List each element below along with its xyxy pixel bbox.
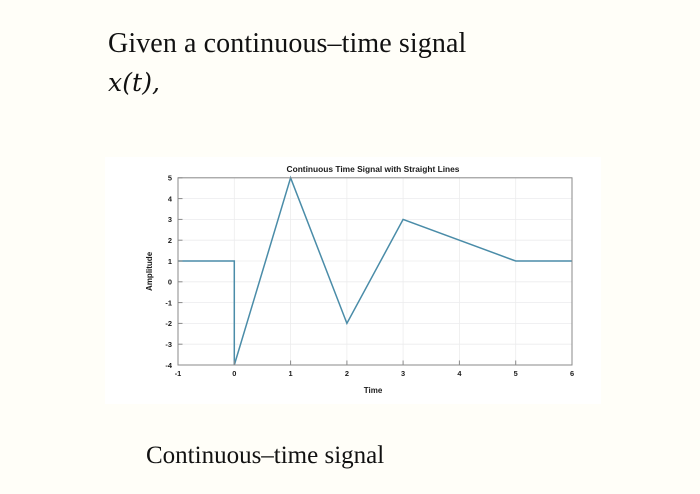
x-tick-label: 4 <box>457 369 462 378</box>
y-tick-label: -3 <box>165 340 172 349</box>
heading-line-1: Given a continuous–time signal <box>108 24 668 65</box>
x-tick-label: 1 <box>289 369 293 378</box>
y-axis-title: Amplitude <box>145 251 154 291</box>
x-tick-marks <box>234 361 515 366</box>
y-tick-label: 1 <box>168 257 172 266</box>
y-tick-label: 5 <box>168 174 172 183</box>
y-tick-label: 4 <box>168 194 173 203</box>
y-tick-label: 2 <box>168 236 172 245</box>
y-tick-label: -4 <box>165 361 172 370</box>
y-tick-label: 0 <box>168 278 172 287</box>
x-tick-label: 0 <box>232 369 236 378</box>
x-tick-label: 5 <box>514 369 518 378</box>
y-tick-label: -2 <box>165 319 172 328</box>
y-tick-label: 3 <box>168 215 172 224</box>
x-tick-label: 6 <box>570 369 574 378</box>
horizontal-gridlines <box>178 178 572 344</box>
y-tick-marks <box>178 178 183 365</box>
heading-line-2-math-expression: x(t), <box>108 65 668 101</box>
figure-caption: Continuous–time signal <box>146 442 384 470</box>
figure-panel: Continuous Time Signal with Straight Lin… <box>105 157 601 404</box>
slide-heading: Given a continuous–time signal x(t), <box>108 24 668 101</box>
y-tick-labels: 5 4 3 2 1 0 -1 -2 -3 -4 -5 <box>165 174 172 370</box>
signal-trace <box>178 178 572 365</box>
signal-plot: Continuous Time Signal with Straight Lin… <box>105 157 601 404</box>
x-axis-title: Time <box>364 386 383 395</box>
x-tick-label: -1 <box>175 369 182 378</box>
y-tick-label: -1 <box>165 298 172 307</box>
x-tick-label: 2 <box>345 369 349 378</box>
chart-title: Continuous Time Signal with Straight Lin… <box>287 164 460 174</box>
x-tick-labels: -1 0 1 2 3 4 5 6 <box>175 369 574 378</box>
x-tick-label: 3 <box>401 369 405 378</box>
